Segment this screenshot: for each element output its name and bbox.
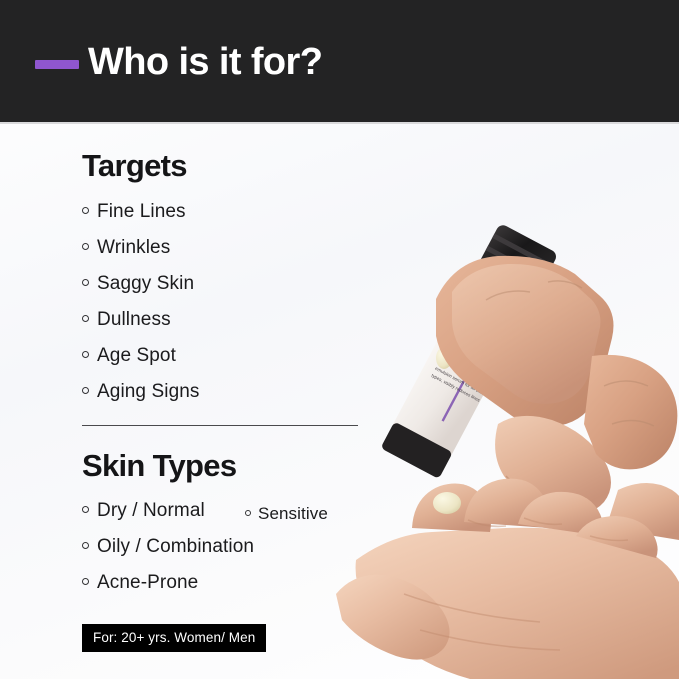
- header-bar: Who is it for?: [0, 0, 679, 124]
- header-content: Who is it for?: [35, 42, 322, 82]
- list-item-label: Dry / Normal: [97, 499, 205, 523]
- list-item-label: Oily / Combination: [97, 535, 254, 559]
- targets-section-title: Targets: [82, 148, 187, 184]
- list-item: Oily / Combination: [82, 535, 254, 571]
- list-item: Acne-Prone: [82, 571, 254, 607]
- list-item: Dullness: [82, 308, 200, 344]
- circle-bullet-icon: [82, 351, 89, 358]
- list-item-label: Aging Signs: [97, 380, 200, 404]
- list-item-label: Acne-Prone: [97, 571, 198, 595]
- list-item: Wrinkles: [82, 236, 200, 272]
- skin-types-list: Dry / Normal Oily / Combination Acne-Pro…: [82, 499, 254, 607]
- skin-type-sensitive: Sensitive: [245, 502, 328, 526]
- list-item: Aging Signs: [82, 380, 200, 416]
- circle-bullet-icon: [82, 243, 89, 250]
- audience-badge: For: 20+ yrs. Women/ Men: [82, 624, 266, 652]
- circle-bullet-icon: [82, 279, 89, 286]
- circle-bullet-icon: [82, 387, 89, 394]
- accent-bar-icon: [35, 60, 79, 69]
- content-area: Targets Fine Lines Wrinkles Saggy Skin D…: [0, 124, 679, 679]
- circle-bullet-icon: [245, 510, 251, 516]
- list-item: Age Spot: [82, 344, 200, 380]
- list-item-label: Fine Lines: [97, 200, 186, 224]
- list-item-label: Saggy Skin: [97, 272, 194, 296]
- circle-bullet-icon: [82, 207, 89, 214]
- circle-bullet-icon: [82, 542, 89, 549]
- list-item: Dry / Normal: [82, 499, 254, 535]
- list-item-label: Dullness: [97, 308, 171, 332]
- list-item-label: Age Spot: [97, 344, 176, 368]
- product-info-card: Who is it for?: [0, 0, 679, 679]
- list-item-label: Wrinkles: [97, 236, 170, 260]
- skin-types-section-title: Skin Types: [82, 448, 236, 484]
- circle-bullet-icon: [82, 506, 89, 513]
- circle-bullet-icon: [82, 315, 89, 322]
- circle-bullet-icon: [82, 578, 89, 585]
- targets-list: Fine Lines Wrinkles Saggy Skin Dullness …: [82, 200, 200, 416]
- page-title: Who is it for?: [88, 42, 322, 82]
- list-item: Saggy Skin: [82, 272, 200, 308]
- list-item: Fine Lines: [82, 200, 200, 236]
- section-divider: [82, 425, 358, 426]
- list-item-label: Sensitive: [258, 502, 328, 526]
